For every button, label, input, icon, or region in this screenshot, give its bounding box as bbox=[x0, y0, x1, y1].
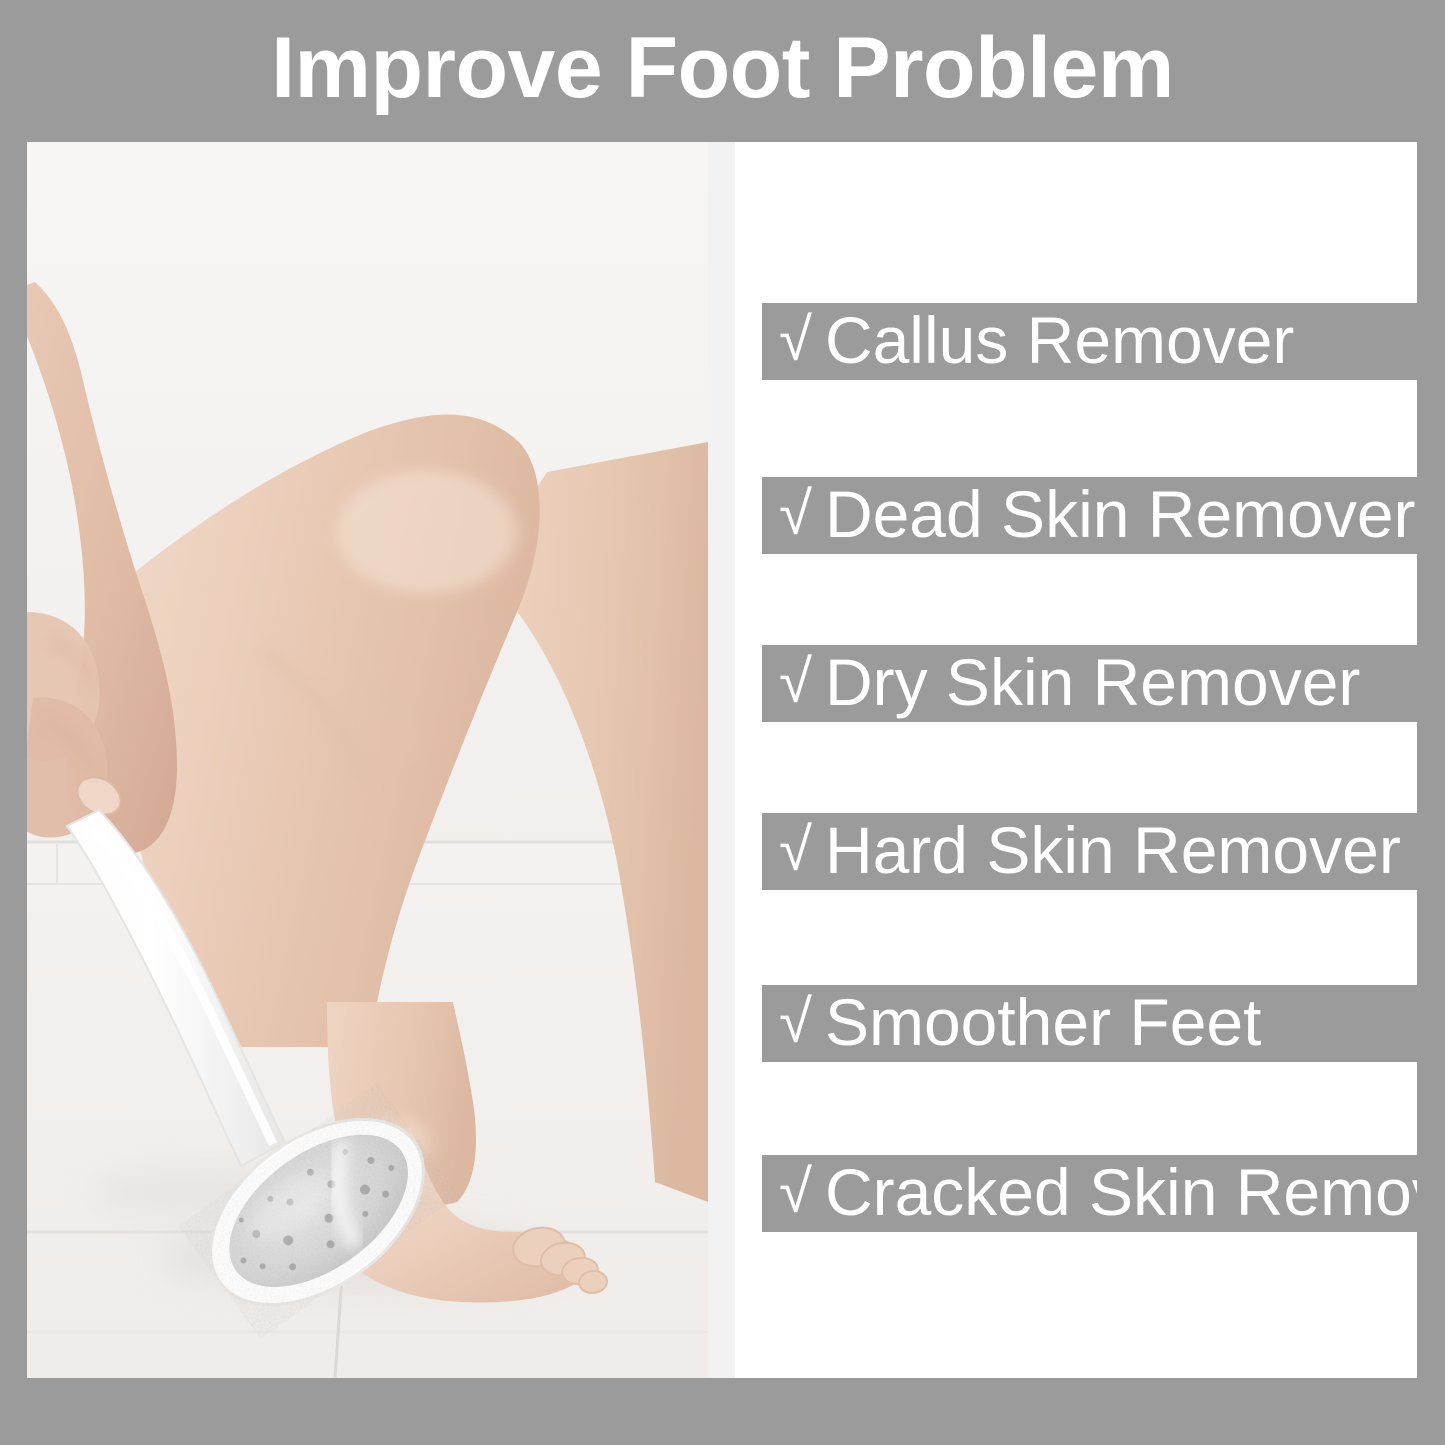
feature-list: √ Callus Remover √ Dead Skin Remover √ D… bbox=[735, 142, 1417, 1378]
feature-label: Hard Skin Remover bbox=[825, 817, 1401, 883]
content-card: √ Callus Remover √ Dead Skin Remover √ D… bbox=[27, 142, 1417, 1378]
list-item: √ Hard Skin Remover bbox=[762, 813, 1417, 890]
panel-divider bbox=[708, 142, 735, 1378]
feature-label: Callus Remover bbox=[825, 307, 1294, 373]
photo-illustration bbox=[27, 142, 708, 1378]
check-icon: √ bbox=[779, 1162, 812, 1222]
check-icon: √ bbox=[779, 820, 812, 880]
list-item: √ Smoother Feet bbox=[762, 985, 1417, 1062]
title-banner: Improve Foot Problem bbox=[0, 0, 1445, 142]
check-icon: √ bbox=[779, 992, 812, 1052]
list-item: √ Callus Remover bbox=[762, 303, 1417, 380]
check-icon: √ bbox=[779, 652, 812, 712]
feature-label: Dead Skin Remover bbox=[825, 481, 1416, 547]
list-item: √ Cracked Skin Remover bbox=[762, 1155, 1417, 1232]
feature-label: Dry Skin Remover bbox=[825, 649, 1360, 715]
feature-label: Cracked Skin Remover bbox=[825, 1159, 1417, 1225]
list-item: √ Dead Skin Remover bbox=[762, 477, 1417, 554]
page-title: Improve Foot Problem bbox=[271, 25, 1174, 111]
check-icon: √ bbox=[779, 484, 812, 544]
product-usage-photo bbox=[27, 142, 708, 1378]
feature-label: Smoother Feet bbox=[825, 989, 1262, 1055]
list-item: √ Dry Skin Remover bbox=[762, 645, 1417, 722]
check-icon: √ bbox=[779, 310, 812, 370]
